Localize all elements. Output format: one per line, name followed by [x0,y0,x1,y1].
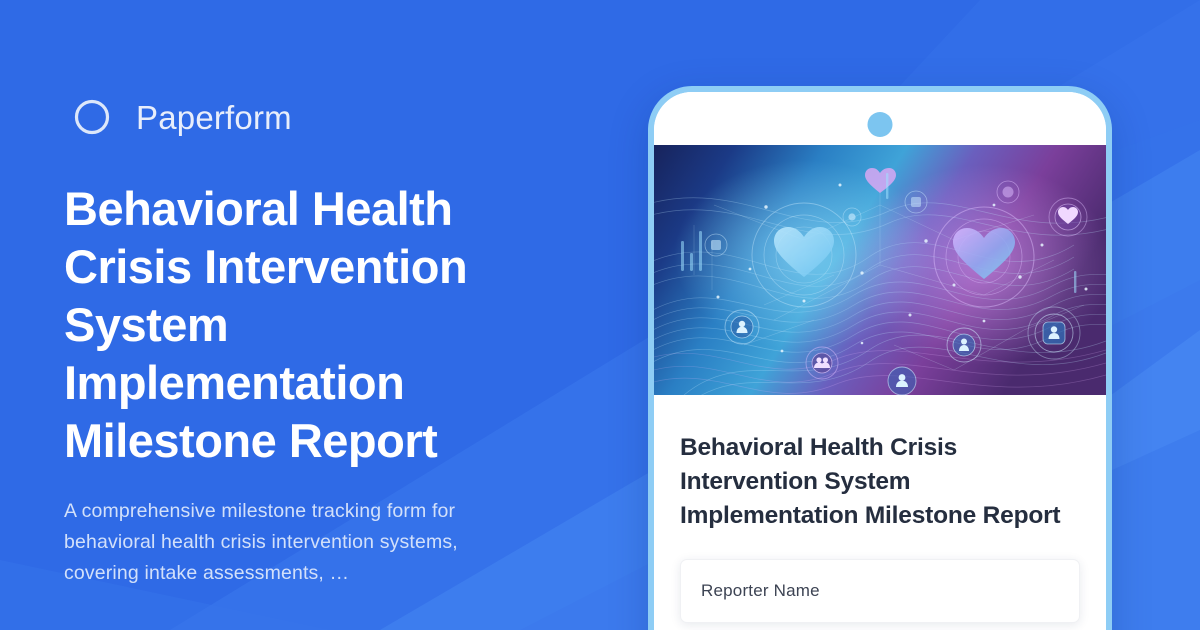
camera-dot-icon [868,112,893,137]
reporter-name-label: Reporter Name [701,581,820,601]
form-cover-image [654,145,1106,395]
left-content-column: Paperform Behavioral Health Crisis Inter… [64,0,604,630]
share-card: Paperform Behavioral Health Crisis Inter… [0,0,1200,630]
phone-screen: Behavioral Health Crisis Intervention Sy… [654,92,1106,630]
form-title: Behavioral Health Crisis Intervention Sy… [680,431,1080,532]
phone-mockup: Behavioral Health Crisis Intervention Sy… [648,86,1112,630]
page-subtitle: A comprehensive milestone tracking form … [64,496,534,588]
page-title: Behavioral Health Crisis Intervention Sy… [64,180,534,470]
brand-lockup: Paperform [64,88,604,146]
network-hearts-illustration-icon [654,145,1106,395]
brand-name: Paperform [136,101,292,134]
paperform-logo-icon [64,89,120,145]
reporter-name-field[interactable]: Reporter Name [680,559,1080,623]
form-content: Behavioral Health Crisis Intervention Sy… [654,395,1106,630]
